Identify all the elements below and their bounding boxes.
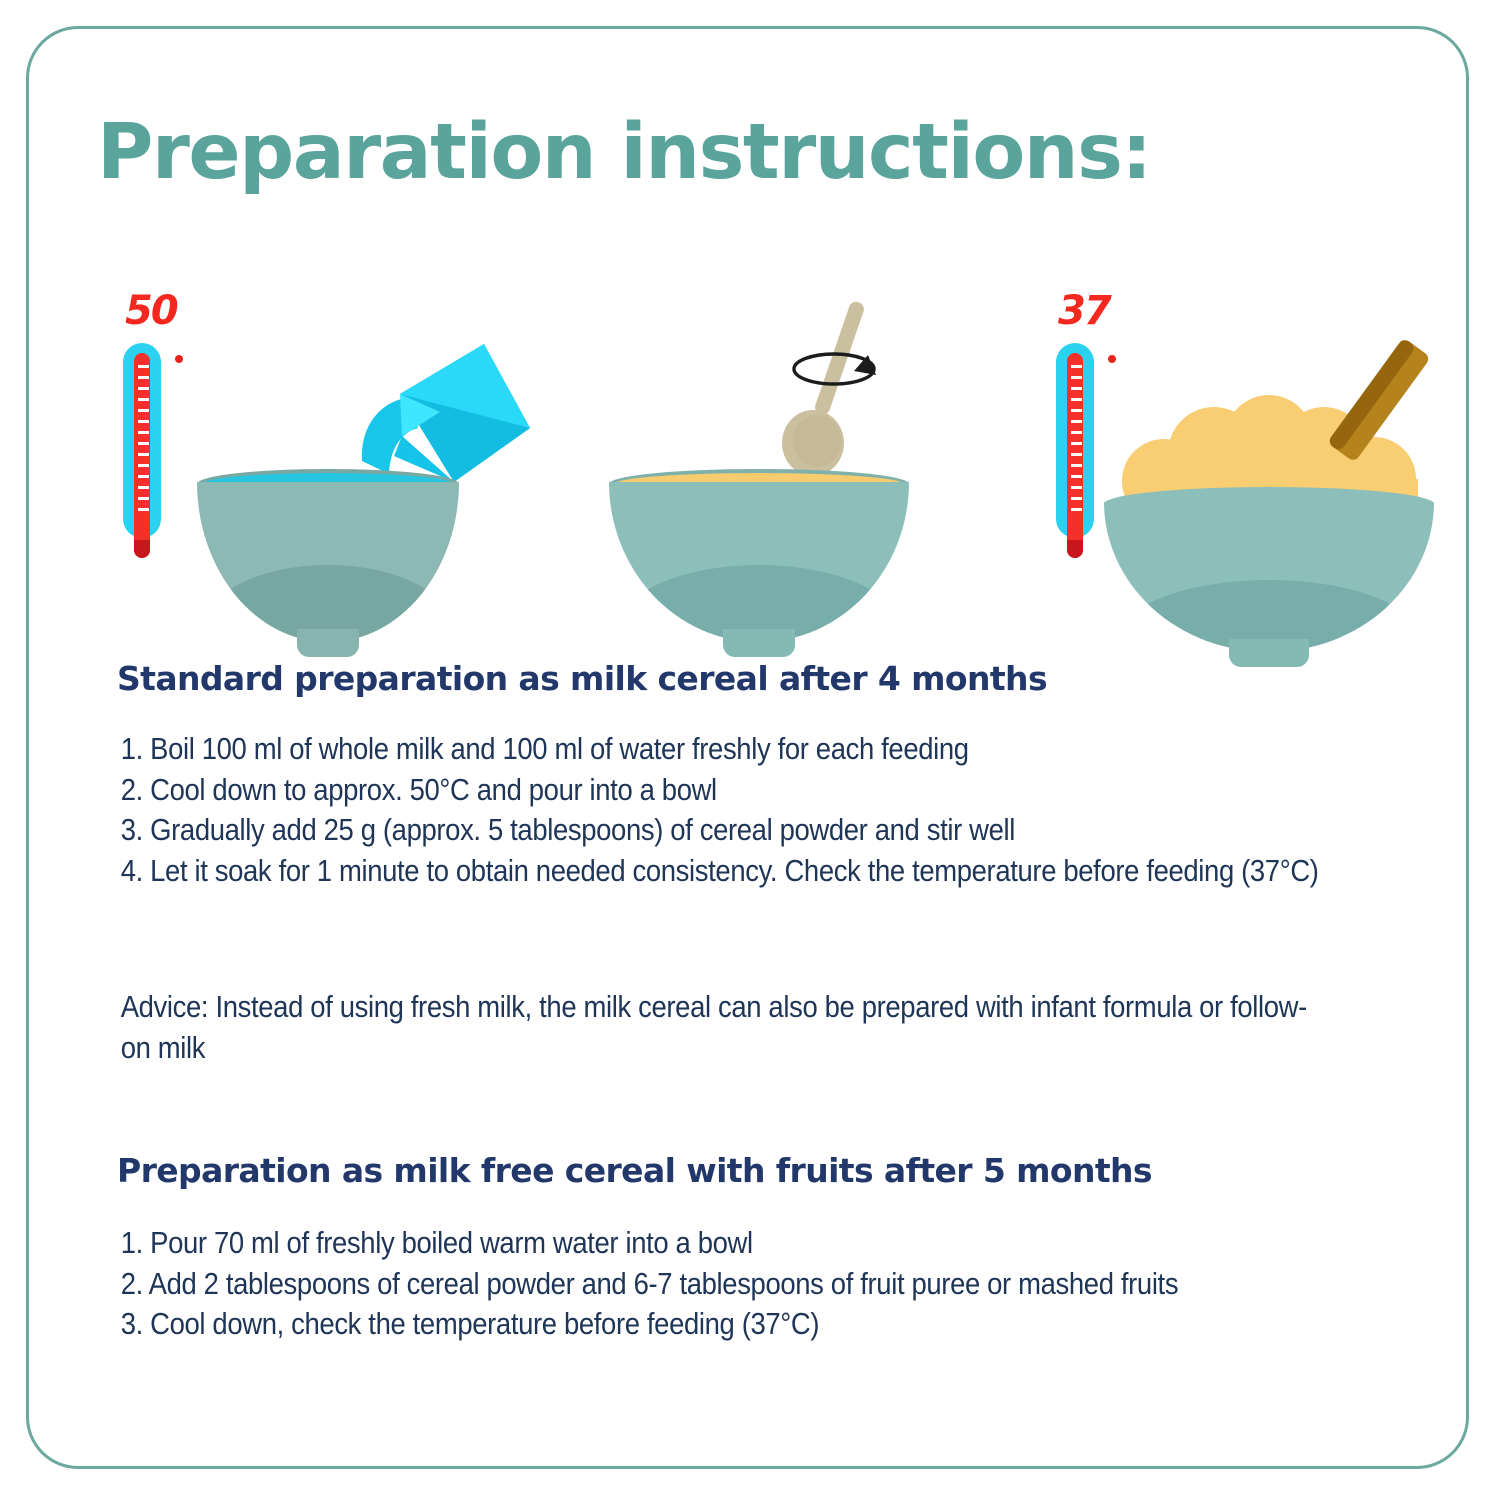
illustration-check-temperature-of-porridge: 37 <box>1024 291 1444 651</box>
list-item: 4. Let it soak for 1 minute to obtain ne… <box>91 851 1459 892</box>
list-item: 3. Cool down, check the temperature befo… <box>91 1304 1459 1345</box>
spoon-handle-icon <box>1314 329 1449 474</box>
thermometer-value-label: 50 <box>125 291 177 331</box>
bowl-with-cereal <box>609 469 909 659</box>
illustration-strip: 50 <box>29 291 1472 651</box>
steps-list-standard-preparation: 1. Boil 100 ml of whole milk and 100 ml … <box>91 729 1431 891</box>
bowl-body <box>1104 502 1434 652</box>
steps-list-milk-free-preparation: 1. Pour 70 ml of freshly boiled warm wat… <box>91 1223 1431 1345</box>
list-item: 3. Gradually add 25 g (approx. 5 tablesp… <box>91 810 1459 851</box>
advice-note: Advice: Instead of using fresh milk, the… <box>91 987 1327 1068</box>
bowl-body <box>197 482 459 642</box>
list-item: 2. Cool down to approx. 50°C and pour in… <box>91 770 1459 811</box>
thermometer-ticks <box>138 365 150 517</box>
illustration-stir-cereal <box>594 291 924 651</box>
bowl-foot <box>297 629 360 657</box>
section-heading-standard-preparation: Standard preparation as milk cereal afte… <box>117 661 1047 697</box>
thermometer-50: 50 <box>119 291 199 571</box>
section-heading-milk-free-preparation: Preparation as milk free cereal with fru… <box>117 1153 1152 1189</box>
thermometer-value-label: 37 <box>1058 291 1110 331</box>
degree-symbol-icon <box>175 355 183 363</box>
list-item: 2. Add 2 tablespoons of cereal powder an… <box>91 1264 1459 1305</box>
page-title: Preparation instructions: <box>97 114 1151 191</box>
bowl-foot <box>1229 639 1308 667</box>
list-item: 1. Boil 100 ml of whole milk and 100 ml … <box>91 729 1459 770</box>
illustration-pour-water-into-bowl: 50 <box>89 291 539 651</box>
degree-symbol-icon <box>1108 355 1116 363</box>
bowl-foot <box>723 629 795 657</box>
bowl-with-water <box>197 469 459 659</box>
bowl-with-porridge <box>1104 487 1434 663</box>
thermometer-bulb <box>134 516 150 558</box>
instruction-card: Preparation instructions: 50 <box>26 26 1469 1469</box>
wooden-spoon-stir-icon <box>772 291 902 481</box>
thermometer-bulb <box>1067 516 1083 558</box>
thermometer-ticks <box>1071 365 1083 517</box>
list-item: 1. Pour 70 ml of freshly boiled warm wat… <box>91 1223 1459 1264</box>
bowl-body <box>609 482 909 642</box>
